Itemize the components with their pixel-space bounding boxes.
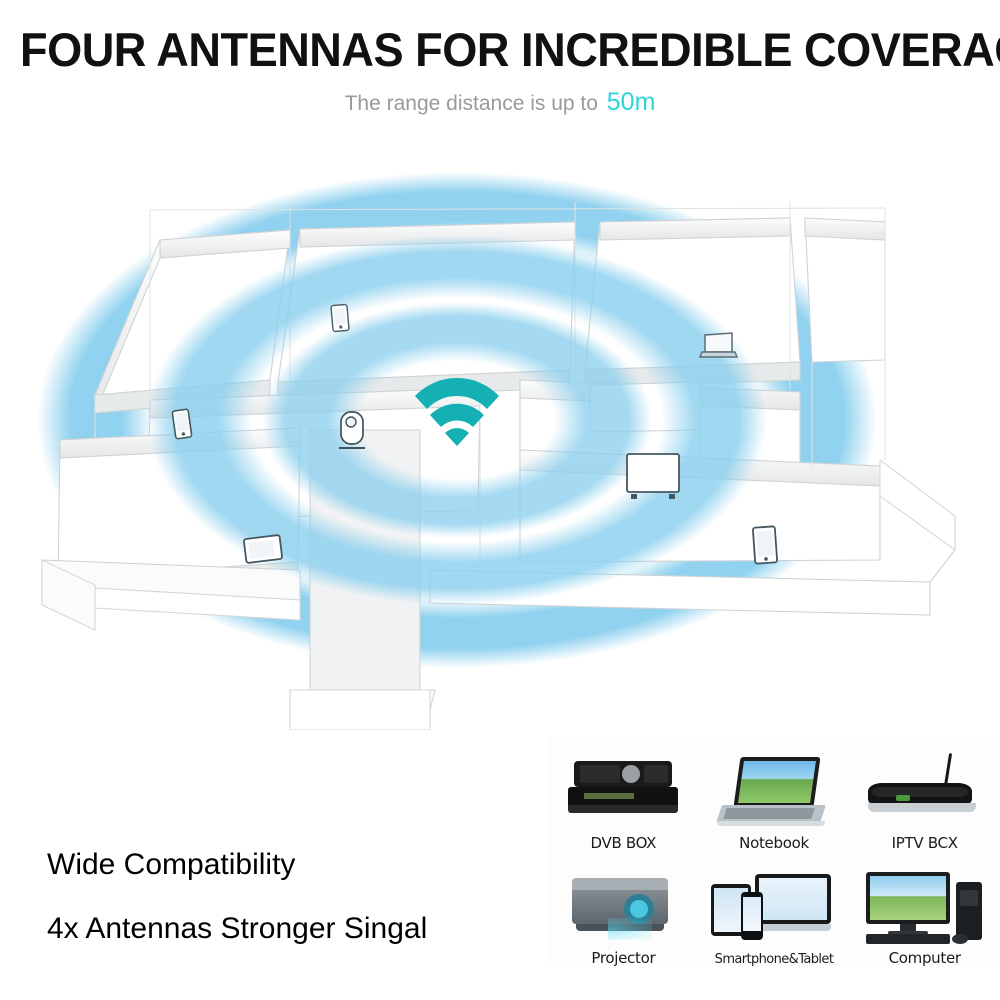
compat-item-projector: Projector — [548, 851, 699, 966]
page-title: FOUR ANTENNAS FOR INCREDIBLE COVERAGE — [20, 22, 980, 77]
iptv-box-icon — [860, 753, 990, 833]
compat-label: Computer — [889, 948, 961, 966]
feature-wide-compatibility: Wide Compatibility — [47, 850, 517, 880]
feature-antennas: 4x Antennas Stronger Singal — [47, 914, 517, 944]
device-television — [627, 454, 679, 499]
compat-item-notebook: Notebook — [699, 736, 850, 851]
coverage-illustration — [0, 130, 1000, 730]
feature-list: Wide Compatibility 4x Antennas Stronger … — [47, 850, 517, 978]
compat-item-computer: Computer — [849, 851, 1000, 966]
page-subtitle: The range distance is up to 50m — [0, 88, 1000, 117]
device-smartphone-left — [172, 409, 192, 439]
projector-icon — [558, 868, 688, 948]
product-infographic: FOUR ANTENNAS FOR INCREDIBLE COVERAGE Th… — [0, 0, 1000, 1000]
compat-item-smartphone-tablet: Smartphone&Tablet — [699, 851, 850, 966]
computer-icon — [860, 868, 990, 948]
compat-label: Smartphone&Tablet — [715, 950, 834, 966]
compat-label: Projector — [591, 948, 655, 966]
notebook-icon — [709, 753, 839, 833]
compat-label: IPTV BCX — [892, 833, 958, 851]
compatibility-grid: DVB BOX Notebook — [548, 736, 1000, 966]
compat-item-iptv-box: IPTV BCX — [849, 736, 1000, 851]
compat-item-dvb-box: DVB BOX — [548, 736, 699, 851]
dvb-box-icon — [558, 753, 688, 833]
device-tablet — [753, 526, 777, 563]
compat-label: DVB BOX — [591, 833, 657, 851]
room-far-right — [805, 218, 885, 362]
device-smartphone-top — [331, 304, 349, 331]
smartphone-tablet-icon — [709, 870, 839, 950]
compatibility-row: Projector Smartphone&Tablet — [548, 851, 1000, 966]
device-laptop — [700, 333, 737, 357]
device-media-player — [244, 535, 283, 563]
compat-label: Notebook — [739, 833, 809, 851]
range-value: 50m — [607, 88, 656, 116]
compatibility-row: DVB BOX Notebook — [548, 736, 1000, 851]
subtitle-text: The range distance is up to — [345, 92, 604, 115]
